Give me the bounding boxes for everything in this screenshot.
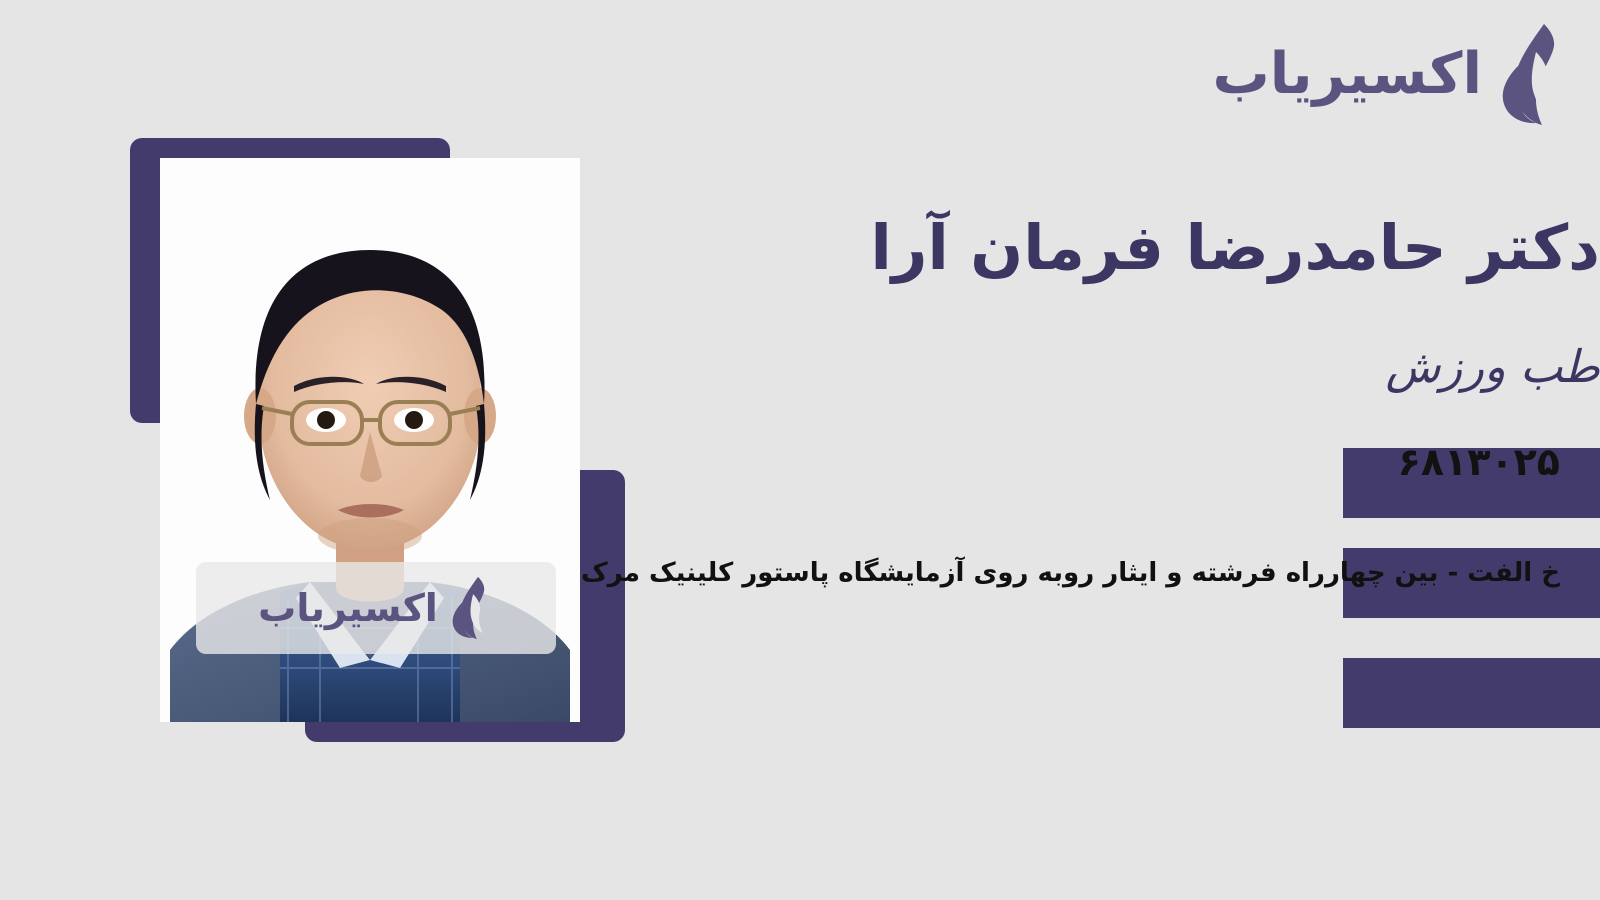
photo-area: اکسیریاب xyxy=(0,0,660,800)
doctor-specialty: طب ورزش xyxy=(720,340,1600,394)
photo-watermark: اکسیریاب xyxy=(196,562,556,654)
watermark-brand-name: اکسیریاب xyxy=(258,589,438,627)
doctor-address: خ الفت - بین چهارراه فرشته و ایثار روبه … xyxy=(680,556,1560,591)
flame-droplet-icon xyxy=(446,575,494,641)
doctor-name: دکتر حامدرضا فرمان آرا xyxy=(720,212,1600,283)
flame-droplet-icon xyxy=(1492,22,1570,127)
brand-logo[interactable]: اکسیریاب xyxy=(1213,22,1571,127)
brand-name: اکسیریاب xyxy=(1213,46,1483,103)
doctor-phone[interactable]: ۶۸۱۳۰۲۵ xyxy=(1398,440,1560,486)
doctor-profile-card: اکسیریاب xyxy=(0,0,1600,900)
decor-bar-3 xyxy=(1343,658,1600,728)
